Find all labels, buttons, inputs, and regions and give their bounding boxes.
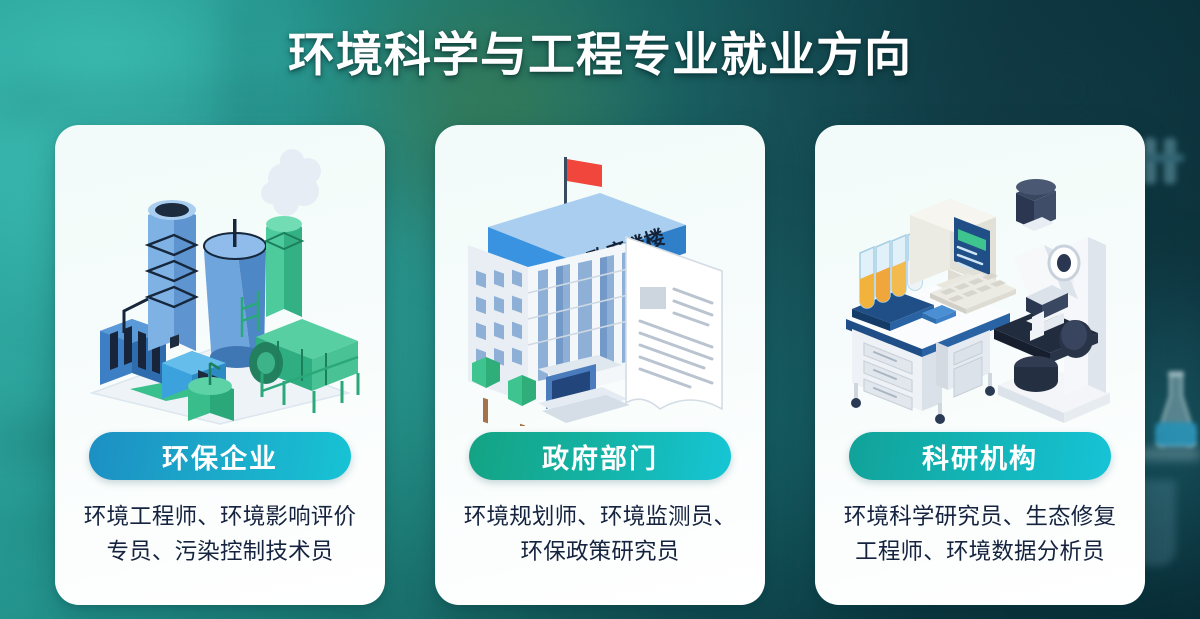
government-building-illustration: 政府楼楼 xyxy=(450,141,750,426)
badge-research-institute: 科研机构 xyxy=(849,432,1111,480)
laboratory-desk-microscope-illustration xyxy=(830,141,1130,426)
factory-plant-illustration xyxy=(70,141,370,426)
poster-canvas: 环境科学与工程专业就业方向 xyxy=(0,0,1200,619)
badge-government-department: 政府部门 xyxy=(469,432,731,480)
description-research-institute: 环境科学研究员、生态修复工程师、环境数据分析员 xyxy=(835,500,1125,570)
badge-environmental-enterprise: 环保企业 xyxy=(89,432,351,480)
page-title: 环境科学与工程专业就业方向 xyxy=(0,28,1200,82)
card-research-institute[interactable]: 科研机构 环境科学研究员、生态修复工程师、环境数据分析员 xyxy=(815,125,1145,605)
description-government-department: 环境规划师、环境监测员、环保政策研究员 xyxy=(455,500,745,570)
career-direction-card-list: 环保企业 环境工程师、环境影响评价专员、污染控制技术员 政府楼楼 xyxy=(55,125,1145,605)
description-environmental-enterprise: 环境工程师、环境影响评价专员、污染控制技术员 xyxy=(75,500,365,570)
card-environmental-enterprise[interactable]: 环保企业 环境工程师、环境影响评价专员、污染控制技术员 xyxy=(55,125,385,605)
card-government-department[interactable]: 政府楼楼 xyxy=(435,125,765,605)
